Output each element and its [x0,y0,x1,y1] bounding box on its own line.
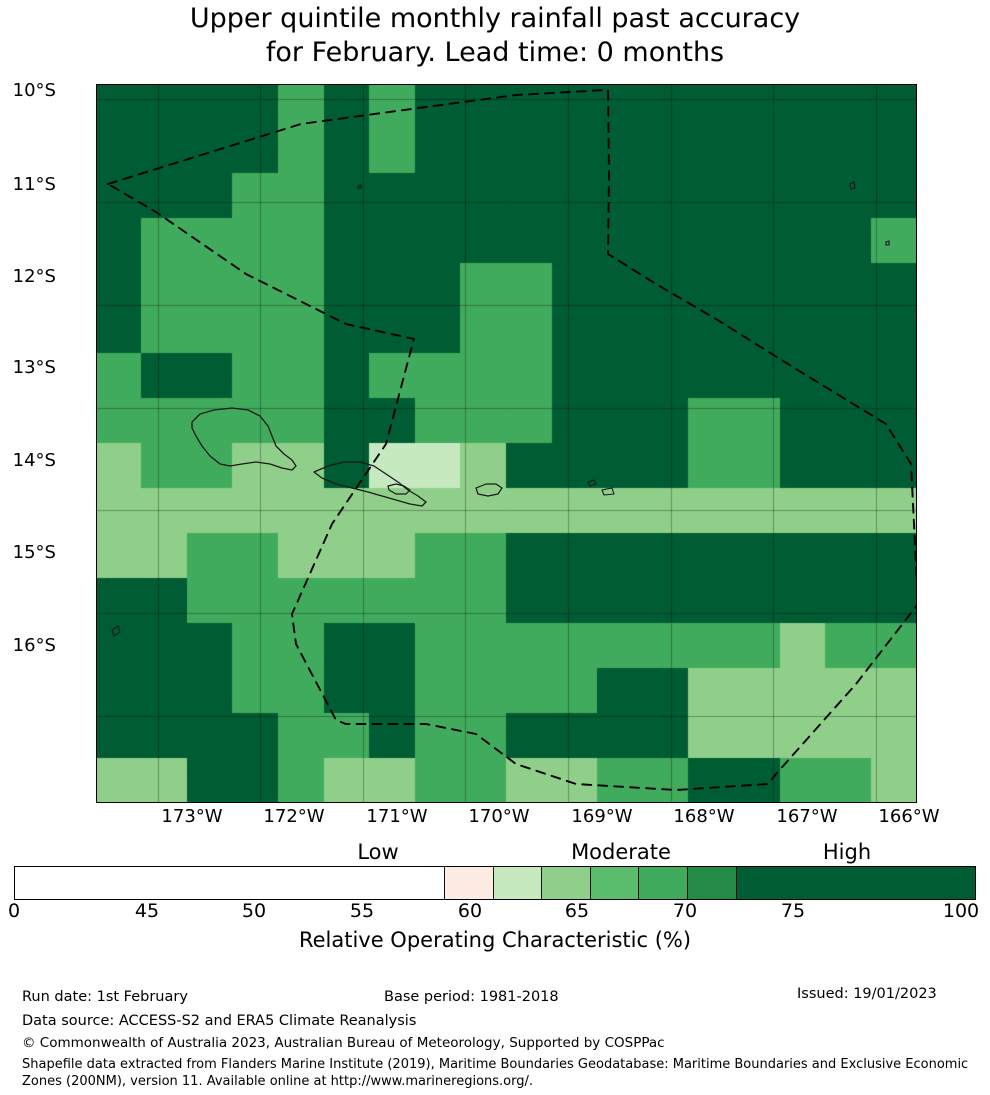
footer-issued-date: Issued: 19/01/2023 [797,985,937,1004]
ytick-label: 15°S [0,544,56,562]
title-line-2: for February. Lead time: 0 months [0,36,990,70]
footer-copyright: © Commonwealth of Australia 2023, Austra… [22,1034,665,1053]
colorbar [14,866,976,900]
colorbar-tick: 45 [107,902,187,921]
ytick-label: 13°S [0,359,56,377]
colorbar-segment [736,867,975,899]
colorbar-category-low: Low [278,842,478,863]
footer-base-period: Base period: 1981-2018 [384,988,559,1007]
footer-run-date: Run date: 1st February [22,988,188,1007]
colorbar-tick: 55 [322,902,402,921]
colorbar-tick: 70 [645,902,725,921]
colorbar-segment [541,867,590,899]
colorbar-segment [444,867,493,899]
colorbar-segment [638,867,687,899]
heatmap-canvas [96,84,917,803]
colorbar-tick: 50 [214,902,294,921]
colorbar-tick: 75 [753,902,833,921]
colorbar-segment [590,867,639,899]
xtick-label: 172°W [239,808,349,826]
colorbar-category-high: High [747,842,947,863]
colorbar-tick: 60 [430,902,510,921]
ytick-label: 11°S [0,176,56,194]
page-title: Upper quintile monthly rainfall past acc… [0,2,990,70]
map-plot-area [96,84,917,803]
footer-shapefile-attribution: Shapefile data extracted from Flanders M… [22,1056,972,1090]
xtick-label: 169°W [547,808,657,826]
colorbar-tick: 0 [0,902,54,921]
colorbar-segment [493,867,542,899]
roc-heatmap-grid [96,84,917,803]
colorbar-segment [15,867,444,899]
xtick-label: 173°W [137,808,247,826]
ytick-label: 10°S [0,82,56,100]
ytick-label: 12°S [0,268,56,286]
ytick-label: 14°S [0,452,56,470]
footer-data-source: Data source: ACCESS-S2 and ERA5 Climate … [22,1012,416,1031]
xtick-label: 167°W [752,808,862,826]
ytick-label: 16°S [0,637,56,655]
xtick-label: 170°W [444,808,554,826]
xtick-label: 168°W [649,808,759,826]
colorbar-title: Relative Operating Characteristic (%) [0,928,990,952]
colorbar-gradient [14,866,976,900]
xtick-label: 166°W [854,808,964,826]
colorbar-segment [687,867,736,899]
xtick-label: 171°W [342,808,452,826]
colorbar-category-moderate: Moderate [521,842,721,863]
title-line-1: Upper quintile monthly rainfall past acc… [0,2,990,36]
colorbar-tick: 65 [537,902,617,921]
colorbar-tick: 100 [921,902,990,921]
